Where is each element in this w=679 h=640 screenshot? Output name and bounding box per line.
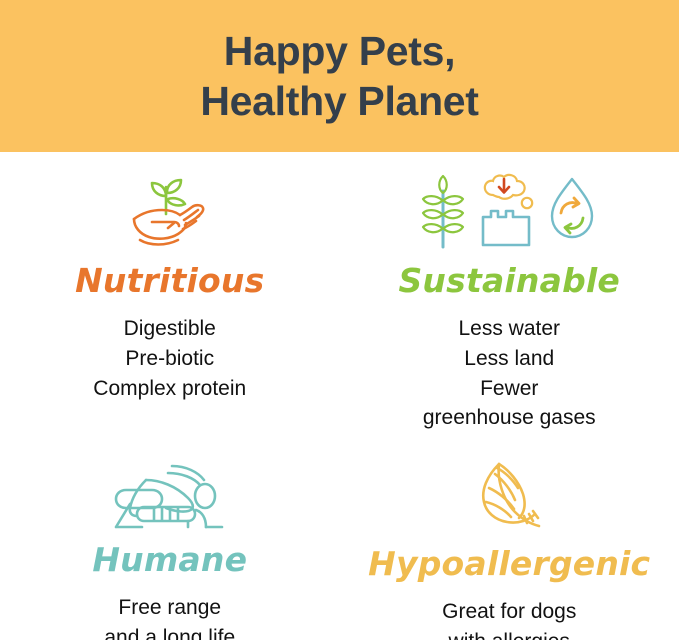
feature-line: Free range <box>104 593 235 623</box>
page-header: Happy Pets, Healthy Planet <box>0 0 679 152</box>
feature-heading-nutritious: Nutritious <box>75 264 264 297</box>
page-title-line-2: Healthy Planet <box>200 76 478 126</box>
feature-line: Great for dogs <box>442 597 576 627</box>
hypoallergenic-icon-group <box>469 460 549 541</box>
feature-lines-humane: Free range and a long life <box>104 593 235 640</box>
feature-lines-sustainable: Less water Less land Fewer greenhouse ga… <box>423 314 596 433</box>
sustainable-icon-group <box>419 170 599 258</box>
feature-heading-hypoallergenic: Hypoallergenic <box>368 547 650 580</box>
feature-line: and a long life <box>104 623 235 640</box>
factory-emissions-icon <box>475 173 537 256</box>
feature-cell-sustainable: Sustainable Less water Less land Fewer g… <box>340 152 679 438</box>
feature-line: Pre-biotic <box>93 344 246 374</box>
feature-cell-nutritious: Nutritious Digestible Pre-biotic Complex… <box>0 152 340 438</box>
feature-cell-hypoallergenic: Hypoallergenic Great for dogs with aller… <box>340 438 679 640</box>
feature-cell-humane: Humane Free range and a long life <box>0 438 340 640</box>
feature-lines-hypoallergenic: Great for dogs with allergies <box>442 597 576 640</box>
feature-line: Fewer <box>423 374 596 404</box>
hand-with-sprout-icon <box>122 172 218 257</box>
feature-line: greenhouse gases <box>423 403 596 433</box>
feature-line: Less water <box>423 314 596 344</box>
feature-line: Complex protein <box>93 374 246 404</box>
feature-heading-humane: Humane <box>92 543 247 576</box>
feature-line: Less land <box>423 344 596 374</box>
cricket-icon <box>110 460 230 537</box>
feature-line: Digestible <box>93 314 246 344</box>
feature-line: with allergies <box>442 627 576 640</box>
feature-heading-sustainable: Sustainable <box>398 264 620 297</box>
page-title-line-1: Happy Pets, <box>224 26 455 76</box>
feature-grid: Nutritious Digestible Pre-biotic Complex… <box>0 152 679 640</box>
humane-icon-group <box>110 460 230 537</box>
feather-icon <box>469 460 549 541</box>
feature-lines-nutritious: Digestible Pre-biotic Complex protein <box>93 314 246 403</box>
water-droplet-recycle-icon <box>545 173 599 256</box>
wheat-stalk-icon <box>419 173 467 256</box>
nutritious-icon-group <box>122 170 218 258</box>
